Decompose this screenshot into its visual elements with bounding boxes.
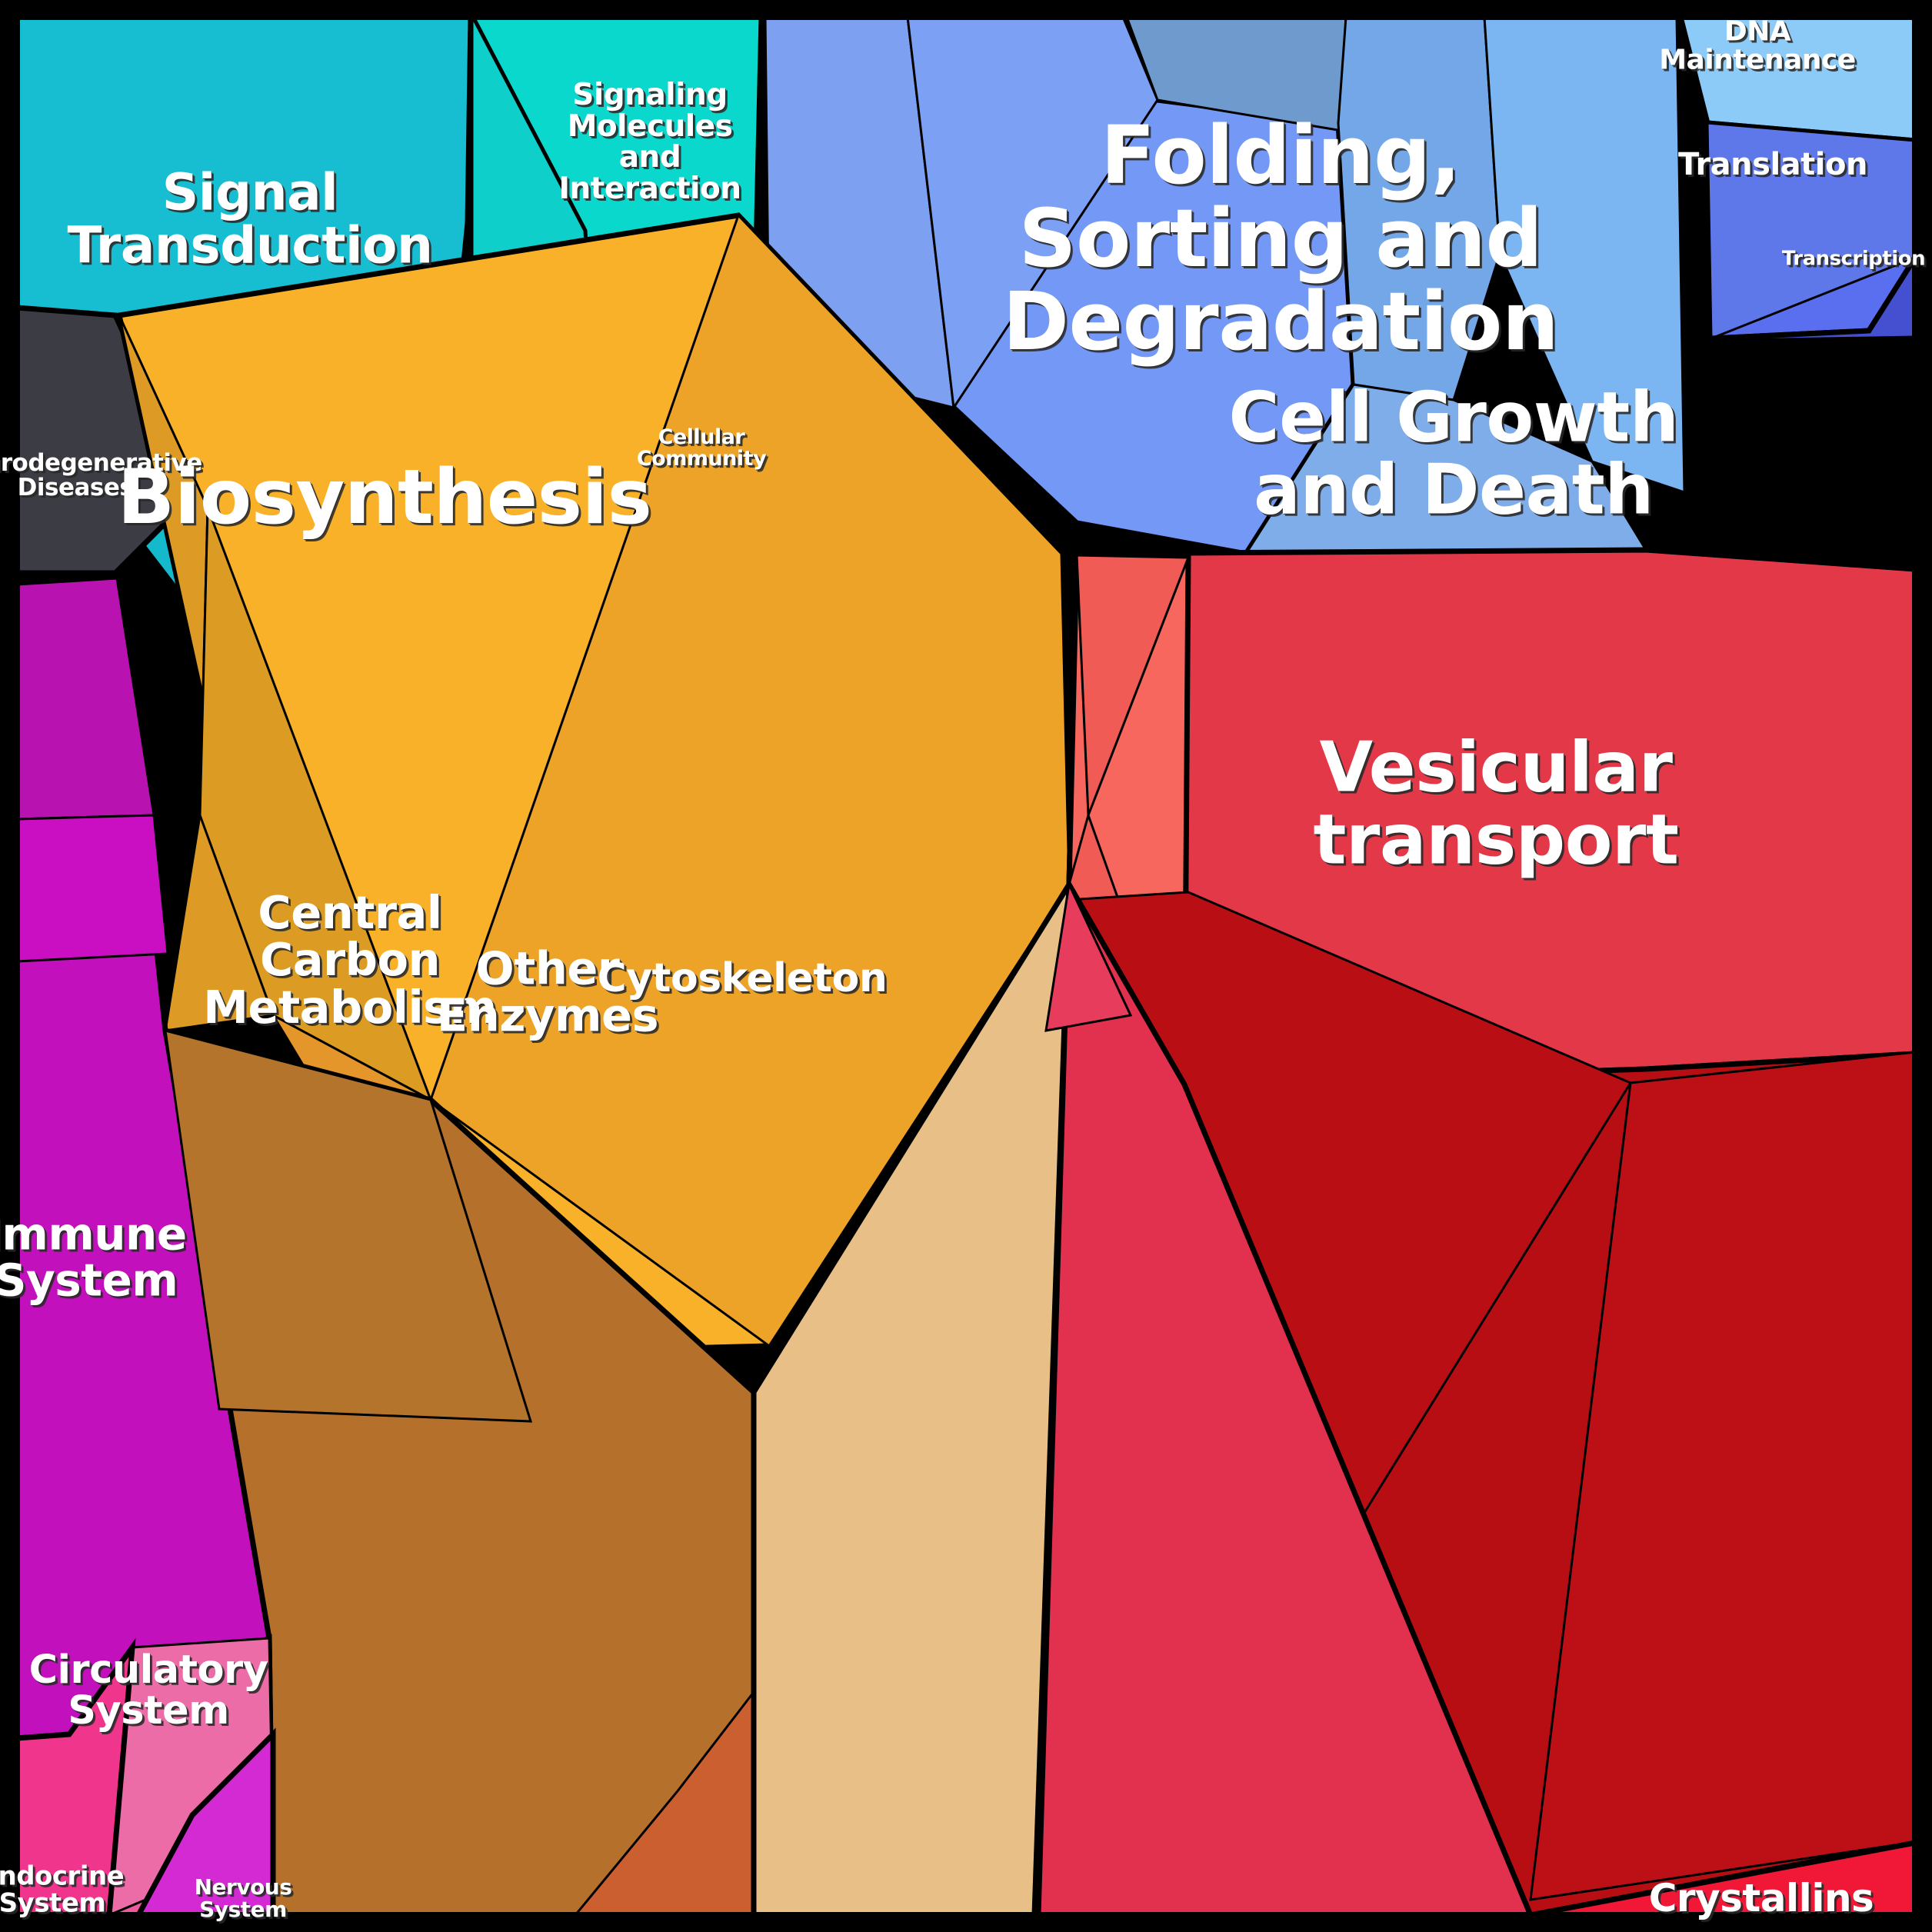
treemap-cell-immune-system-sub-upper[interactable] (17, 578, 154, 819)
voronoi-treemap-figure: Signal TransductionSignaling Molecules a… (0, 0, 1932, 1932)
treemap-cells-group (17, 17, 1915, 1915)
treemap-cell-folding-sub-right[interactable] (1338, 17, 1500, 400)
treemap-cell-immune-system-sub-mid[interactable] (17, 815, 168, 961)
treemap-svg (0, 0, 1932, 1932)
treemap-cell-folding-sub-far-right[interactable] (1484, 17, 1684, 492)
